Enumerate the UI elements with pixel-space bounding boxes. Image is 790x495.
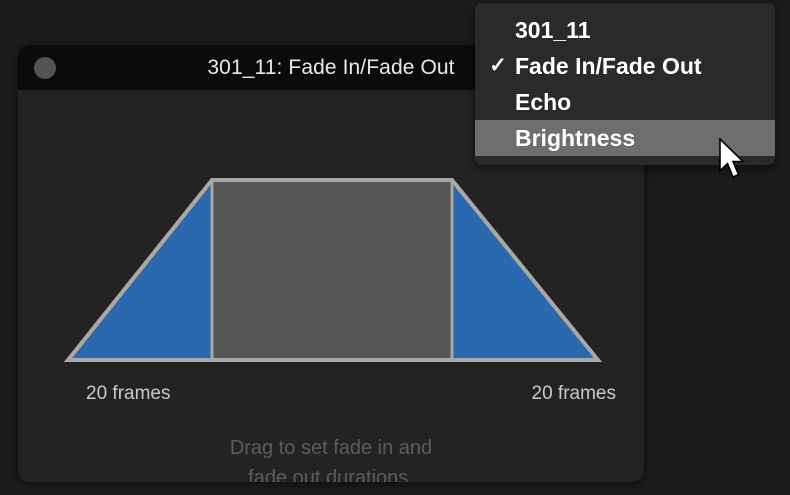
menu-item-label: 301_11 — [515, 17, 590, 43]
fade-out-duration-label: 20 frames — [532, 383, 616, 405]
menu-item-brightness[interactable]: ✓ Brightness — [475, 120, 775, 156]
menu-item-label: Fade In/Fade Out — [515, 53, 702, 79]
menu-item-301-11[interactable]: ✓ 301_11 — [475, 12, 775, 48]
drag-hint-line-1: Drag to set fade in and — [18, 433, 644, 463]
drag-hint-line-2: fade out durations. — [18, 463, 644, 482]
menu-item-label: Brightness — [515, 125, 635, 151]
menu-item-echo[interactable]: ✓ Echo — [475, 84, 775, 120]
menu-item-fade-in-fade-out[interactable]: ✓ Fade In/Fade Out — [475, 48, 775, 84]
drag-hint-text: Drag to set fade in and fade out duratio… — [18, 433, 644, 482]
effect-dropdown-menu[interactable]: ✓ 301_11 ✓ Fade In/Fade Out ✓ Echo ✓ Bri… — [475, 3, 775, 165]
hold-region[interactable] — [212, 180, 452, 360]
checkmark-icon: ✓ — [487, 48, 509, 84]
fade-in-duration-label: 20 frames — [86, 383, 170, 405]
menu-item-label: Echo — [515, 89, 571, 115]
